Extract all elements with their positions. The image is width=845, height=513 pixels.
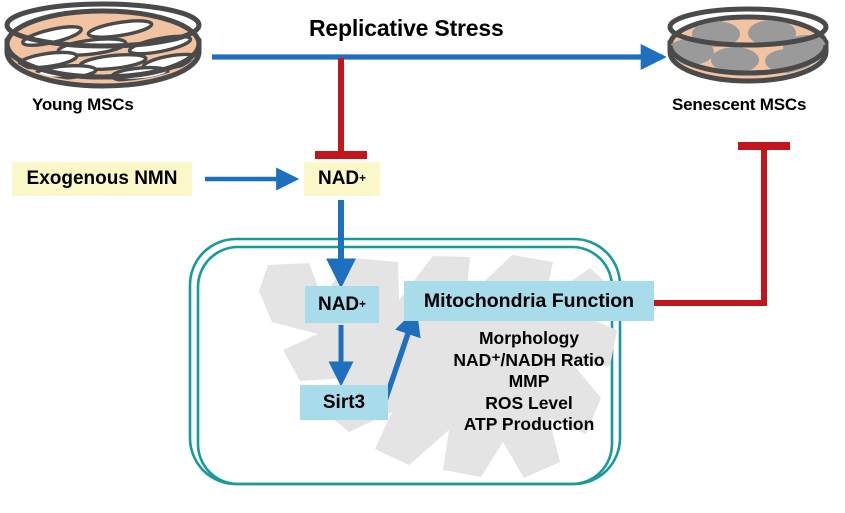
parameter-item: ROS Level: [404, 393, 654, 415]
node-nad-extracellular[interactable]: NAD+: [304, 162, 380, 196]
node-nad-extracellular-label: NAD: [318, 168, 359, 190]
node-mitochondria-function[interactable]: Mitochondria Function: [404, 281, 654, 321]
young-msc-dish: [7, 4, 199, 86]
node-mitochondria-function-label: Mitochondria Function: [424, 290, 634, 313]
node-nad-intracellular-label: NAD: [318, 294, 359, 316]
node-nad-intracellular[interactable]: NAD+: [305, 286, 379, 323]
node-sirt3-label: Sirt3: [323, 392, 365, 414]
inhibition-mito-to-senescence: [653, 146, 790, 303]
replicative-stress-title: Replicative Stress: [309, 15, 504, 42]
parameter-item: NAD⁺/NADH Ratio: [404, 350, 654, 372]
senescent-msc-dish: [666, 9, 829, 81]
node-exogenous-nmn[interactable]: Exogenous NMN: [12, 162, 192, 196]
parameter-item: MMP: [404, 371, 654, 393]
senescent-msc-caption: Senescent MSCs: [672, 96, 806, 113]
parameter-item: Morphology: [404, 328, 654, 350]
diagram-vector-layer: [0, 0, 845, 513]
parameter-item: ATP Production: [404, 414, 654, 436]
node-sirt3[interactable]: Sirt3: [300, 385, 388, 420]
young-msc-caption: Young MSCs: [32, 96, 134, 113]
mitochondria-parameter-list: Morphology NAD⁺/NADH Ratio MMP ROS Level…: [404, 328, 654, 436]
diagram-canvas: Replicative Stress Young MSCs Senescent …: [0, 0, 845, 513]
node-exogenous-nmn-label: Exogenous NMN: [27, 168, 178, 190]
inhibition-stress-to-nad: [315, 58, 367, 155]
